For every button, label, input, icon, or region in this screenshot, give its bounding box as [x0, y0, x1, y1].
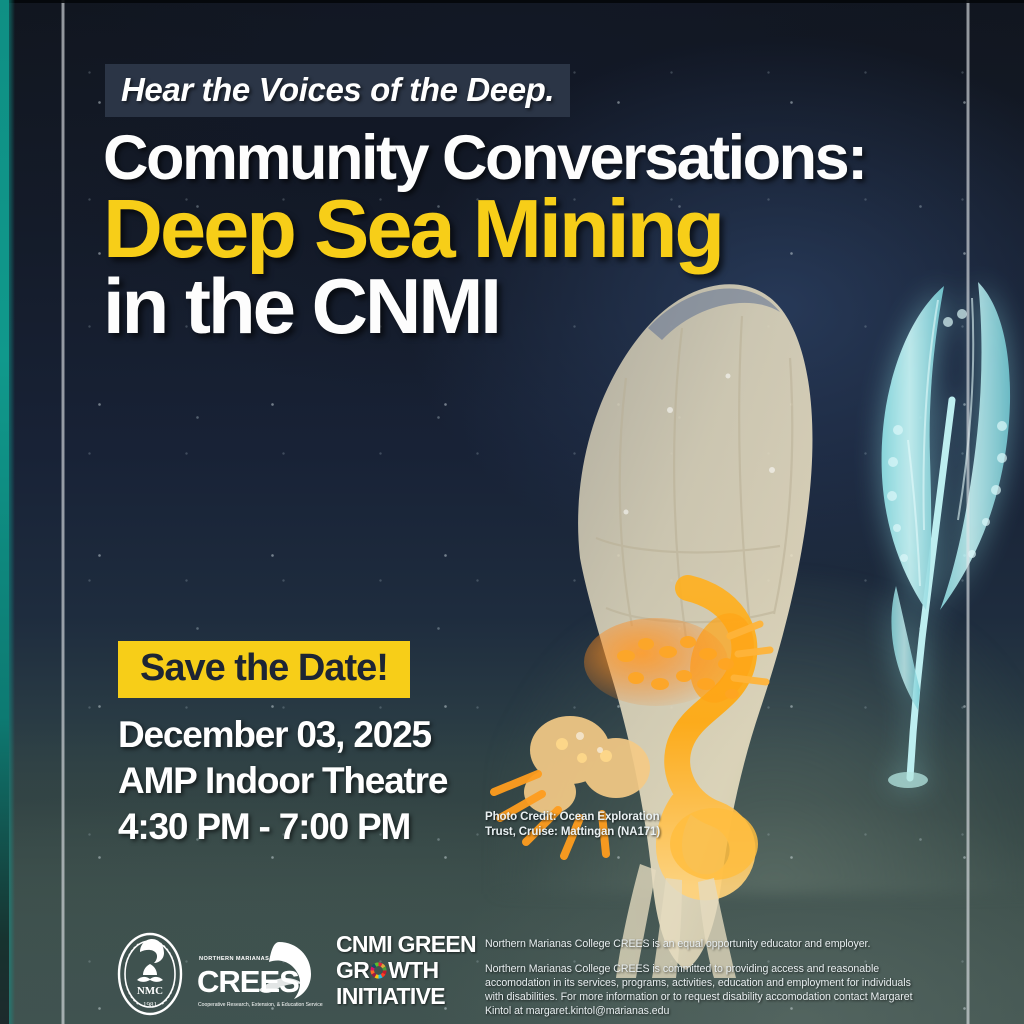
- teal-edge-glow: [9, 0, 15, 1024]
- cnmi-green-growth-logo: CNMI GREEN GR: [336, 931, 460, 1017]
- photo-credit: Photo Credit: Ocean Exploration Trust, C…: [485, 810, 715, 841]
- right-guide-line: [966, 0, 970, 1024]
- nmc-seal-center: NMC: [137, 985, 163, 997]
- title-line-1: Community Conversations:: [103, 128, 963, 188]
- nmc-seal-year: 1981: [143, 1001, 158, 1009]
- ggi-line-3: INITIATIVE: [336, 983, 460, 1009]
- photo-credit-line-2: Trust, Cruise: Mattingan (NA171): [485, 825, 715, 840]
- sdg-wheel-icon: [369, 961, 388, 980]
- equal-opportunity-statement: Northern Marianas College CREES is an eq…: [485, 938, 915, 952]
- event-date: December 03, 2025: [118, 712, 447, 758]
- footer-legal-text: Northern Marianas College CREES is an eq…: [485, 938, 915, 1019]
- crees-acronym: CREES: [197, 964, 299, 999]
- top-edge-band: [0, 0, 1024, 3]
- poster-canvas: Hear the Voices of the Deep. Community C…: [0, 0, 1024, 1024]
- crees-supertitle: NORTHERN MARIANAS COLLEGE: [199, 956, 301, 962]
- page-title: Community Conversations: Deep Sea Mining…: [103, 128, 963, 344]
- event-time: 4:30 PM - 7:00 PM: [118, 804, 447, 850]
- ggi-line-2: GR: [336, 957, 460, 983]
- title-line-3: in the CNMI: [103, 269, 963, 344]
- save-the-date-badge: Save the Date!: [118, 641, 410, 698]
- ggi-line-1: CNMI GREEN: [336, 931, 460, 957]
- ggi-line-2-before: GR: [336, 957, 369, 983]
- save-the-date-label: Save the Date!: [140, 647, 388, 689]
- crees-logo: NORTHERN MARIANAS COLLEGE CREES Cooperat…: [195, 936, 323, 1012]
- event-details: December 03, 2025 AMP Indoor Theatre 4:3…: [118, 712, 447, 850]
- poster-content: Hear the Voices of the Deep. Community C…: [0, 0, 1024, 1024]
- title-line-2: Deep Sea Mining: [103, 189, 963, 269]
- nmc-seal-logo: NMC 1981: [112, 930, 188, 1018]
- accommodation-statement: Northern Marianas College CREES is commi…: [485, 963, 915, 1019]
- kicker-banner: Hear the Voices of the Deep.: [105, 64, 570, 117]
- event-venue: AMP Indoor Theatre: [118, 758, 447, 804]
- ggi-line-2-after: WTH: [388, 957, 438, 983]
- kicker-text: Hear the Voices of the Deep.: [121, 71, 554, 108]
- crees-subtitle: Cooperative Research, Extension, & Educa…: [198, 1002, 323, 1008]
- teal-edge-strip: [0, 0, 9, 1024]
- photo-credit-line-1: Photo Credit: Ocean Exploration: [485, 810, 715, 825]
- left-guide-line: [61, 0, 65, 1024]
- footer-logos: NMC 1981 NORTHERN MARI: [112, 928, 460, 1020]
